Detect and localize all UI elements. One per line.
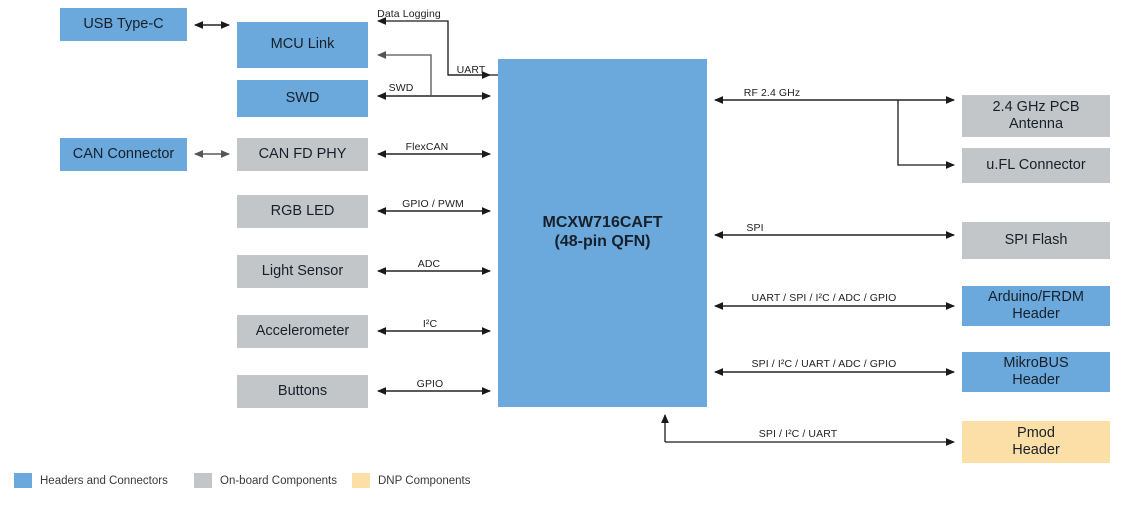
block-pmod-header[interactable]: Pmod Header xyxy=(962,421,1110,463)
legend-swatch-gray xyxy=(194,473,212,488)
label-data-logging: Data Logging xyxy=(377,8,441,20)
block-usb-type-c[interactable]: USB Type-C xyxy=(60,8,187,41)
label-arduino-bus: UART / SPI / I²C / ADC / GPIO xyxy=(752,292,897,304)
label-flexcan: FlexCAN xyxy=(406,141,449,153)
block-arduino-frdm-header[interactable]: Arduino/FRDM Header xyxy=(962,286,1110,326)
legend-item-headers-connectors: Headers and Connectors xyxy=(14,473,168,488)
block-mikrobus-header[interactable]: MikroBUS Header xyxy=(962,352,1110,392)
block-swd[interactable]: SWD xyxy=(237,80,368,117)
label-adc: ADC xyxy=(418,258,440,270)
legend-label-onboard-components: On-board Components xyxy=(220,475,337,487)
label-swd: SWD xyxy=(389,82,414,94)
block-can-connector[interactable]: CAN Connector xyxy=(60,138,187,171)
legend-label-headers-connectors: Headers and Connectors xyxy=(40,475,168,487)
block-ufl-connector[interactable]: u.FL Connector xyxy=(962,148,1110,183)
label-mikrobus-bus: SPI / I²C / UART / ADC / GPIO xyxy=(752,358,897,370)
block-light-sensor[interactable]: Light Sensor xyxy=(237,255,368,288)
label-gpio: GPIO xyxy=(417,378,444,390)
label-gpio-pwm: GPIO / PWM xyxy=(402,198,464,210)
block-buttons[interactable]: Buttons xyxy=(237,375,368,408)
label-rf-2-4ghz: RF 2.4 GHz xyxy=(744,87,800,99)
block-mcu-link[interactable]: MCU Link xyxy=(237,22,368,68)
legend-item-dnp-components: DNP Components xyxy=(352,473,470,488)
block-rgb-led[interactable]: RGB LED xyxy=(237,195,368,228)
block-diagram-canvas: USB Type-C CAN Connector MCU Link SWD CA… xyxy=(0,0,1122,515)
label-spi: SPI xyxy=(746,222,763,234)
block-2-4ghz-pcb-antenna[interactable]: 2.4 GHz PCB Antenna xyxy=(962,95,1110,137)
block-mcu-mcxw716caft[interactable]: MCXW716CAFT (48-pin QFN) xyxy=(498,59,707,407)
legend-item-onboard-components: On-board Components xyxy=(194,473,337,488)
label-i2c: I²C xyxy=(423,318,437,330)
legend-swatch-blue xyxy=(14,473,32,488)
legend-label-dnp-components: DNP Components xyxy=(378,475,470,487)
block-can-fd-phy[interactable]: CAN FD PHY xyxy=(237,138,368,171)
block-spi-flash[interactable]: SPI Flash xyxy=(962,222,1110,259)
label-pmod-bus: SPI / I²C / UART xyxy=(759,428,837,440)
block-accelerometer[interactable]: Accelerometer xyxy=(237,315,368,348)
label-uart: UART xyxy=(457,64,486,76)
legend: Headers and Connectors On-board Componen… xyxy=(0,470,1122,500)
legend-swatch-orange xyxy=(352,473,370,488)
